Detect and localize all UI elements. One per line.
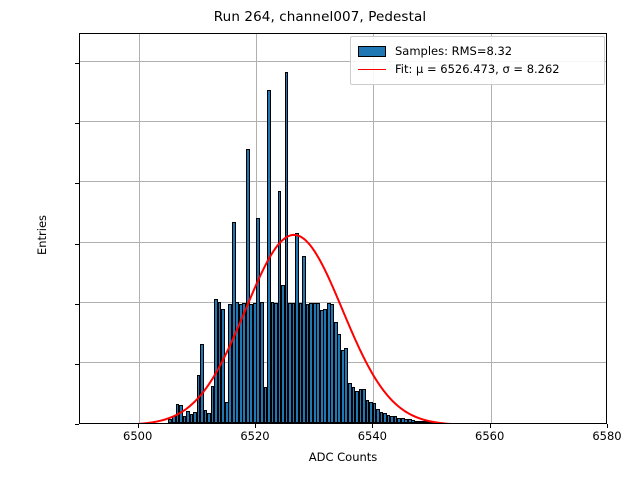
- figure-canvas: Run 264, channel007, Pedestal 0500100015…: [0, 0, 640, 480]
- y-axis-tick-mark: [75, 183, 79, 184]
- x-axis-tick-mark: [372, 424, 373, 428]
- y-axis-tick-mark: [75, 244, 79, 245]
- legend-item-samples: Samples: RMS=8.32: [358, 42, 597, 60]
- y-axis-label: Entries: [35, 175, 49, 295]
- x-axis-tick-mark: [607, 424, 608, 428]
- legend-label-fit: Fit: μ = 6526.473, σ = 8.262: [395, 62, 560, 76]
- x-axis-tick-mark: [490, 424, 491, 428]
- x-axis-tick-label: 6520: [240, 429, 269, 443]
- plot-area: [79, 33, 607, 424]
- x-axis-label: ADC Counts: [79, 450, 607, 464]
- chart-legend: Samples: RMS=8.32 Fit: μ = 6526.473, σ =…: [350, 36, 605, 85]
- y-axis-tick-mark: [75, 304, 79, 305]
- x-axis-tick-label: 6500: [123, 429, 152, 443]
- x-axis-tick-mark: [255, 424, 256, 428]
- chart-title: Run 264, channel007, Pedestal: [0, 9, 640, 25]
- legend-item-fit: Fit: μ = 6526.473, σ = 8.262: [358, 60, 597, 78]
- x-axis-tick-label: 6540: [358, 429, 387, 443]
- y-axis-tick-mark: [75, 364, 79, 365]
- x-axis-tick-mark: [138, 424, 139, 428]
- legend-line-swatch-icon: [358, 69, 386, 70]
- y-axis-tick-mark: [75, 424, 79, 425]
- x-axis-tick-label: 6580: [592, 429, 621, 443]
- x-axis-tick-label: 6560: [475, 429, 504, 443]
- legend-label-samples: Samples: RMS=8.32: [395, 44, 512, 58]
- y-axis-tick-mark: [75, 63, 79, 64]
- fit-path: [92, 235, 538, 424]
- legend-patch-swatch-icon: [358, 46, 386, 57]
- y-axis-tick-mark: [75, 123, 79, 124]
- gaussian-fit-curve: [80, 34, 607, 424]
